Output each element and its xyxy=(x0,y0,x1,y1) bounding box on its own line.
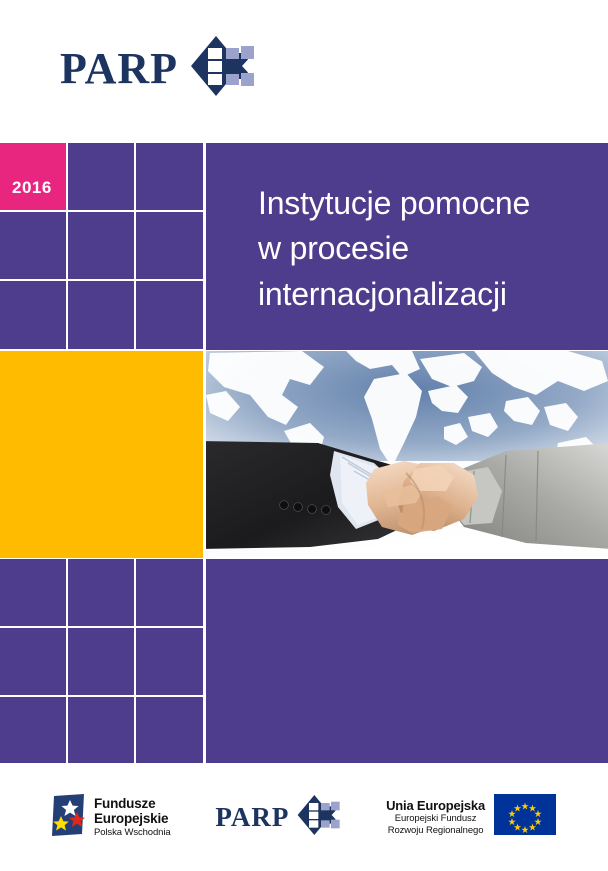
upper-grid-band: 2016 Instytucje pomocne w procesie inter… xyxy=(0,143,608,350)
handshake-photo xyxy=(206,351,608,558)
grid-cell xyxy=(0,697,67,765)
page-title-line-2: w procesie xyxy=(258,226,588,271)
grid-cell xyxy=(0,281,67,349)
publication-cover: PARP 2016 xyxy=(0,0,608,871)
fundusze-europejskie-logo: Fundusze Europejskie Polska Wschodnia xyxy=(52,794,171,841)
fundusze-europejskie-text: Fundusze Europejskie Polska Wschodnia xyxy=(94,796,171,839)
grid-cell xyxy=(0,212,67,280)
fe-line-1: Fundusze xyxy=(94,796,171,811)
fundusze-europejskie-flag-icon xyxy=(52,794,86,841)
footer-logo-bar: Fundusze Europejskie Polska Wschodnia PA… xyxy=(0,763,608,871)
unia-europejska-text: Unia Europejska Europejski Fundusz Rozwo… xyxy=(386,798,485,836)
grid-cell xyxy=(68,628,135,696)
grid-cell xyxy=(136,281,203,349)
grid-cell xyxy=(68,697,135,765)
grid-cell xyxy=(136,628,203,696)
grid-cell xyxy=(136,559,203,627)
grid-cell xyxy=(136,143,203,211)
lower-purple-block xyxy=(206,559,608,763)
lower-grid-band xyxy=(0,559,608,763)
parp-diamond-icon xyxy=(297,794,341,841)
grid-cell xyxy=(0,559,67,627)
title-panel: Instytucje pomocne w procesie internacjo… xyxy=(206,143,608,350)
year-badge-cell: 2016 xyxy=(0,143,67,211)
grid-cell xyxy=(68,559,135,627)
grid-cell xyxy=(68,143,135,211)
amber-accent-block xyxy=(0,351,203,558)
grid-cell xyxy=(68,281,135,349)
eu-line-3: Rozwoju Regionalnego xyxy=(386,825,485,836)
grid-cell xyxy=(0,628,67,696)
unia-europejska-logo: Unia Europejska Europejski Fundusz Rozwo… xyxy=(386,794,556,840)
parp-wordmark-footer: PARP xyxy=(215,804,289,831)
footer-parp-logo: PARP xyxy=(215,794,341,841)
grid-cell xyxy=(136,697,203,765)
year-label: 2016 xyxy=(12,178,52,198)
photo-band xyxy=(0,351,608,558)
lower-left-grid xyxy=(0,559,203,763)
fe-line-3: Polska Wschodnia xyxy=(94,828,171,839)
page-title: Instytucje pomocne w procesie internacjo… xyxy=(258,181,588,317)
page-title-line-3: internacjonalizacji xyxy=(258,272,588,317)
eu-line-2: Europejski Fundusz xyxy=(386,813,485,824)
fe-line-2: Europejskie xyxy=(94,811,171,826)
parp-wordmark: PARP xyxy=(60,47,178,91)
parp-diamond-icon xyxy=(190,35,256,102)
header-parp-logo: PARP xyxy=(60,35,256,102)
grid-cell xyxy=(136,212,203,280)
eu-flag-icon xyxy=(494,794,556,840)
eu-line-1: Unia Europejska xyxy=(386,798,485,813)
upper-left-grid: 2016 xyxy=(0,143,203,350)
page-title-line-1: Instytucje pomocne xyxy=(258,181,588,226)
grid-cell xyxy=(68,212,135,280)
